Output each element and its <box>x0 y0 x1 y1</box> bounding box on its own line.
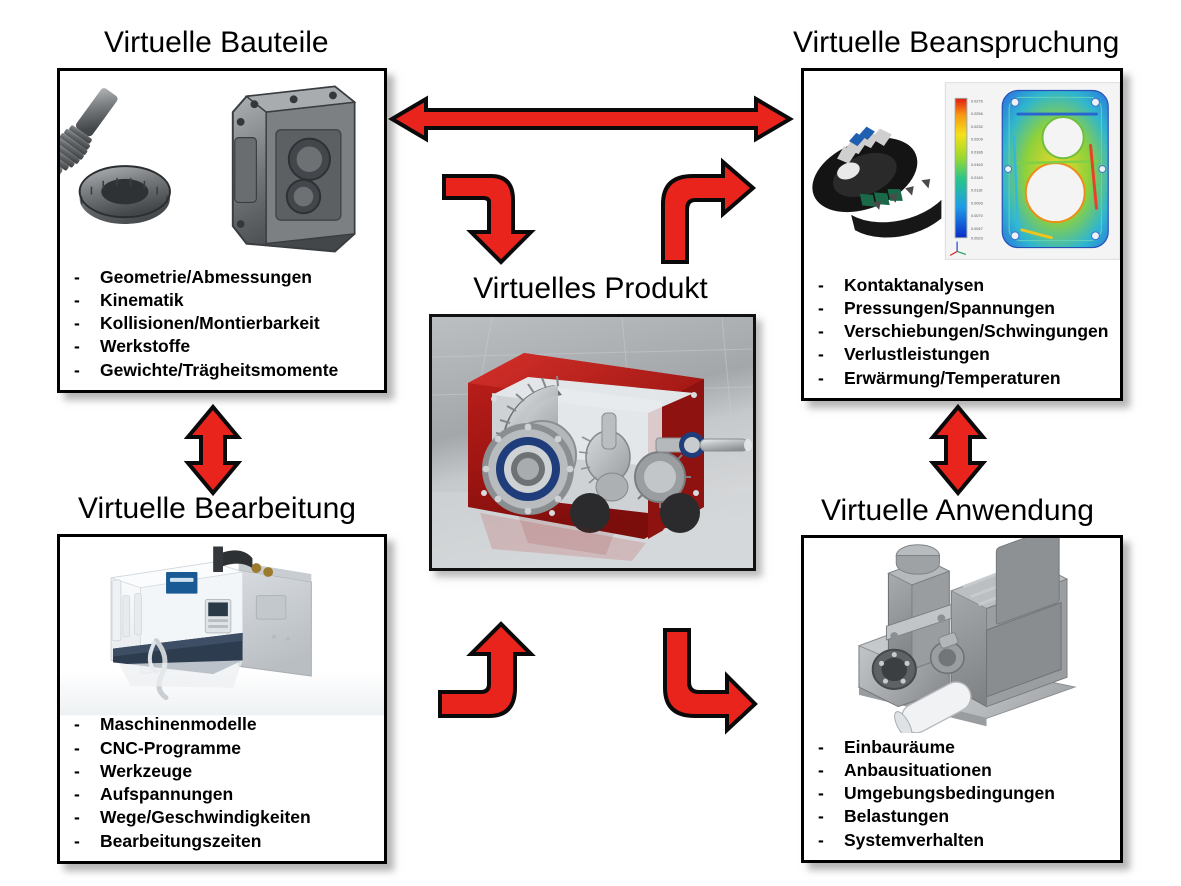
bullet-marker: - <box>818 343 844 366</box>
bullet-marker: - <box>74 359 100 382</box>
bullet-text: Bearbeitungszeiten <box>100 830 261 853</box>
bullet-marker: - <box>818 759 844 782</box>
bullet-list-virtuelle-anwendung: - Einbauräume - Anbausituationen - Umgeb… <box>818 736 1114 852</box>
bullet-marker: - <box>74 312 100 335</box>
bullet-item: - CNC-Programme <box>74 737 378 760</box>
bullet-item: - Gewichte/Trägheitsmomente <box>74 359 378 382</box>
quadrant-box-virtuelle-beanspruchung[interactable]: 0.02760.0256 0.02320.0209 0.01860.0163 0… <box>801 68 1123 401</box>
bullet-text: Erwärmung/Temperaturen <box>844 367 1061 390</box>
bullet-marker: - <box>74 783 100 806</box>
bullet-text: Belastungen <box>844 805 949 828</box>
bullet-item: - Aufspannungen <box>74 783 378 806</box>
bullet-item: - Bearbeitungszeiten <box>74 830 378 853</box>
quadrant-box-virtuelle-bauteile[interactable]: - Geometrie/Abmessungen - Kinematik - Ko… <box>57 68 387 393</box>
bullet-marker: - <box>818 829 844 852</box>
svg-text:0.0023: 0.0023 <box>971 236 983 241</box>
bullet-marker: - <box>818 805 844 828</box>
bullet-text: Anbausituationen <box>844 759 992 782</box>
bullet-marker: - <box>818 320 844 343</box>
svg-text:0.0093: 0.0093 <box>971 200 983 205</box>
connector-upper-left-bent-arrow <box>441 170 547 266</box>
svg-text:0.0209: 0.0209 <box>971 137 983 142</box>
bullet-item: - Verlustleistungen <box>818 343 1114 366</box>
bullet-marker: - <box>818 367 844 390</box>
bullet-item: - Kollisionen/Montierbarkeit <box>74 312 378 335</box>
bullet-text: Maschinenmodelle <box>100 713 257 736</box>
bullet-item: - Werkstoffe <box>74 335 378 358</box>
cnc-machining-center-photo-image <box>60 537 384 717</box>
center-title-virtuelles-produkt: Virtuelles Produkt <box>0 272 1181 306</box>
bullet-text: Werkzeuge <box>100 760 192 783</box>
bullet-item: - Systemverhalten <box>818 829 1114 852</box>
bullet-marker: - <box>74 737 100 760</box>
bullet-marker: - <box>74 335 100 358</box>
bullet-item: - Maschinenmodelle <box>74 713 378 736</box>
svg-text:0.0276: 0.0276 <box>971 98 983 103</box>
svg-text:0.0047: 0.0047 <box>971 226 983 231</box>
quadrant-box-virtuelle-bearbeitung[interactable]: - Maschinenmodelle - CNC-Programme - Wer… <box>57 534 387 864</box>
bullet-item: - Erwärmung/Temperaturen <box>818 367 1114 390</box>
svg-text:0.0116: 0.0116 <box>971 188 983 193</box>
svg-text:0.0256: 0.0256 <box>971 111 983 116</box>
connector-lower-left-bent-arrow <box>437 626 543 722</box>
connector-lower-right-bent-arrow <box>651 626 757 722</box>
bullet-item: - Werkzeuge <box>74 760 378 783</box>
bullet-item: - Einbauräume <box>818 736 1114 759</box>
bullet-text: Gewichte/Trägheitsmomente <box>100 359 338 382</box>
bullet-item: - Anbausituationen <box>818 759 1114 782</box>
quadrant-title-virtuelle-anwendung: Virtuelle Anwendung <box>821 494 1094 528</box>
bullet-marker: - <box>74 760 100 783</box>
bullet-item: - Umgebungsbedingungen <box>818 782 1114 805</box>
bullet-marker: - <box>818 736 844 759</box>
quadrant-title-virtuelle-bearbeitung: Virtuelle Bearbeitung <box>78 492 356 526</box>
svg-text:0.0140: 0.0140 <box>971 175 984 180</box>
connector-top-horizontal-double-arrow <box>388 96 794 142</box>
svg-text:0.0070: 0.0070 <box>971 213 984 218</box>
gearbox-cutaway-render-image <box>429 314 756 571</box>
svg-text:0.0232: 0.0232 <box>971 124 983 129</box>
bullet-marker: - <box>74 713 100 736</box>
gearmotor-installation-assembly-cad-image <box>804 538 1120 733</box>
bullet-marker: - <box>74 830 100 853</box>
fea-gear-contact-and-housing-stress-plot-image: 0.02760.0256 0.02320.0209 0.01860.0163 0… <box>804 71 1120 269</box>
quadrant-box-virtuelle-anwendung[interactable]: - Einbauräume - Anbausituationen - Umgeb… <box>801 535 1123 863</box>
bullet-item: - Belastungen <box>818 805 1114 828</box>
bullet-text: CNC-Programme <box>100 737 241 760</box>
bullet-marker: - <box>74 806 100 829</box>
bullet-text: Werkstoffe <box>100 335 190 358</box>
quadrant-title-virtuelle-bauteile: Virtuelle Bauteile <box>104 26 329 60</box>
bullet-text: Systemverhalten <box>844 829 984 852</box>
bullet-text: Wege/Geschwindigkeiten <box>100 806 311 829</box>
connector-right-vertical-double-arrow <box>927 404 989 496</box>
cad-parts-gear-and-housing-image <box>60 71 384 271</box>
diagram-canvas: Virtuelle Bauteile <box>0 0 1181 886</box>
svg-text:0.0186: 0.0186 <box>971 149 983 154</box>
bullet-text: Verlustleistungen <box>844 343 990 366</box>
bullet-text: Einbauräume <box>844 736 955 759</box>
bullet-item: - Verschiebungen/Schwingungen <box>818 320 1114 343</box>
bullet-list-virtuelle-bearbeitung: - Maschinenmodelle - CNC-Programme - Wer… <box>74 713 378 853</box>
bullet-text: Verschiebungen/Schwingungen <box>844 320 1108 343</box>
bullet-text: Umgebungsbedingungen <box>844 782 1055 805</box>
connector-left-vertical-double-arrow <box>182 404 244 496</box>
bullet-item: - Wege/Geschwindigkeiten <box>74 806 378 829</box>
bullet-marker: - <box>818 782 844 805</box>
svg-text:0.0163: 0.0163 <box>971 162 983 167</box>
bullet-text: Aufspannungen <box>100 783 233 806</box>
quadrant-title-virtuelle-beanspruchung: Virtuelle Beanspruchung <box>793 26 1119 60</box>
connector-upper-right-bent-arrow <box>649 170 755 266</box>
bullet-text: Kollisionen/Montierbarkeit <box>100 312 320 335</box>
